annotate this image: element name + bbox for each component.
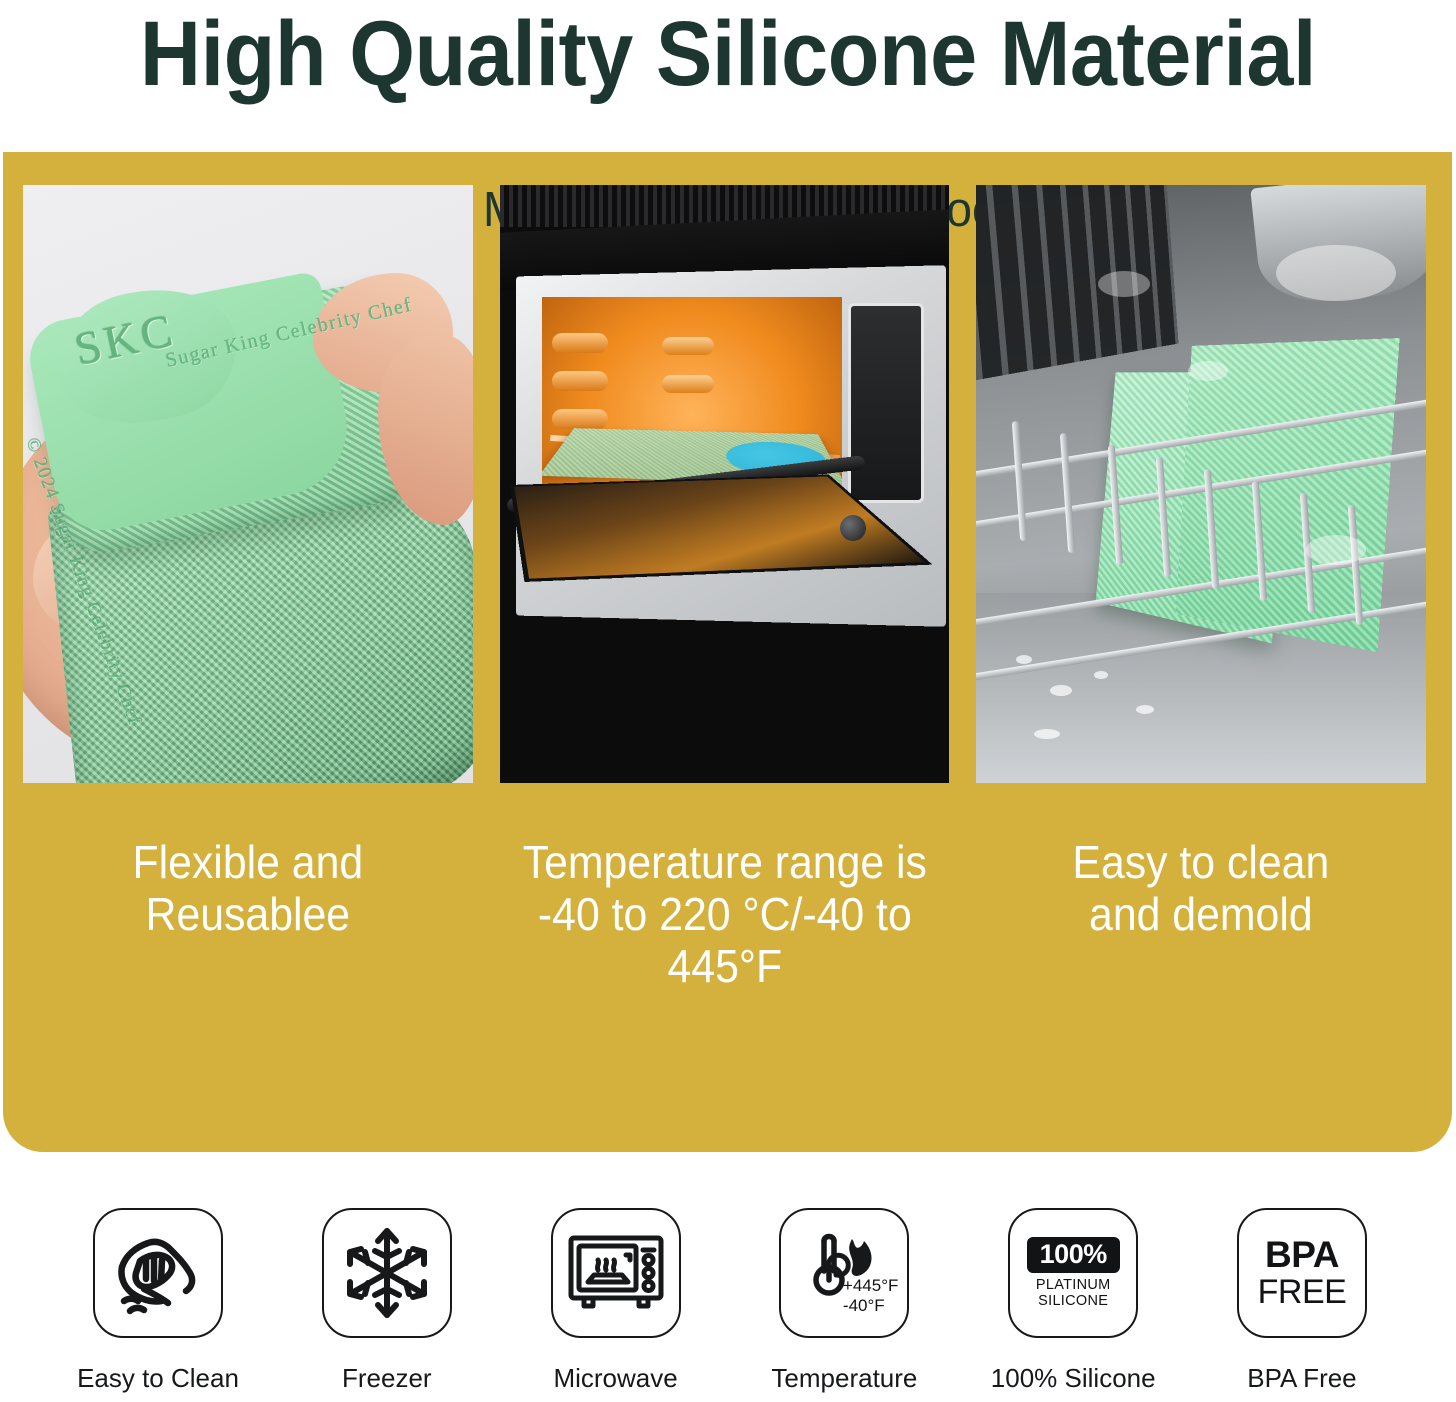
- feature-bpa-free: BPA FREE BPA Free: [1204, 1208, 1400, 1394]
- bpa-free-icon: BPA FREE: [1237, 1208, 1367, 1338]
- thermometer-flame-icon: +445°F -40°F: [779, 1208, 909, 1338]
- oven-door-hinge: [840, 515, 866, 541]
- cavity-rib: [552, 371, 608, 391]
- feature-microwave: Microwave: [518, 1208, 714, 1394]
- feature-easy-to-clean: Easy to Clean: [60, 1208, 256, 1394]
- photo-row: SKC Sugar King Celebrity Chef © 2024 Sug…: [23, 185, 1426, 783]
- water-splash: [1276, 245, 1396, 301]
- feature-freezer: Freezer: [289, 1208, 485, 1394]
- rack-tine: [1012, 421, 1027, 541]
- feature-label: Temperature: [771, 1363, 917, 1394]
- caption-temperature: Temperature range is -40 to 220 °C/-40 t…: [515, 836, 933, 992]
- badge-silicone-line: SILICONE: [1038, 1293, 1108, 1309]
- free-text: FREE: [1258, 1274, 1347, 1310]
- photo-oven-temperature: [500, 185, 950, 783]
- feature-icon-row: Easy to Clean: [60, 1208, 1400, 1394]
- platinum-silicone-badge-icon: 100% PLATINUM SILICONE: [1008, 1208, 1138, 1338]
- feature-label: Freezer: [342, 1363, 432, 1394]
- cavity-rib: [662, 375, 714, 393]
- caption-row: Flexible and Reusablee Temperature range…: [23, 836, 1426, 992]
- bpa-text: BPA: [1265, 1236, 1339, 1274]
- cavity-rib: [552, 333, 608, 353]
- oven-control-panel: [848, 303, 924, 503]
- photo-dishwasher-clean: [976, 185, 1426, 783]
- cavity-rib: [552, 409, 608, 429]
- feature-label: 100% Silicone: [991, 1363, 1156, 1394]
- feature-label: Easy to Clean: [77, 1363, 239, 1394]
- temperature-values: +445°F -40°F: [843, 1276, 898, 1316]
- feature-temperature: +445°F -40°F Temperature: [746, 1208, 942, 1394]
- photo-flexible-mold: SKC Sugar King Celebrity Chef © 2024 Sug…: [23, 185, 473, 783]
- badge-100-percent: 100%: [1027, 1237, 1120, 1273]
- water-splash: [1098, 271, 1150, 297]
- temp-low-value: -40°F: [843, 1296, 898, 1316]
- feature-100-silicone: 100% PLATINUM SILICONE 100% Silicone: [975, 1208, 1171, 1394]
- hand-wiping-cloth-icon: [93, 1208, 223, 1338]
- page-title: High Quality Silicone Material: [58, 2, 1398, 106]
- caption-flexible: Flexible and Reusablee: [39, 836, 457, 992]
- feature-label: BPA Free: [1247, 1363, 1356, 1394]
- infographic-page: High Quality Silicone Material Knitting …: [0, 0, 1456, 1402]
- caption-easy-clean: Easy to clean and demold: [992, 836, 1410, 992]
- rack-tine: [1060, 433, 1075, 553]
- badge-platinum-line: PLATINUM: [1036, 1277, 1111, 1293]
- cavity-rib: [662, 337, 714, 355]
- snowflake-icon: [322, 1208, 452, 1338]
- water-splash: [1306, 535, 1366, 565]
- temp-high-value: +445°F: [843, 1276, 898, 1296]
- microwave-oven-icon: [551, 1208, 681, 1338]
- feature-label: Microwave: [553, 1363, 677, 1394]
